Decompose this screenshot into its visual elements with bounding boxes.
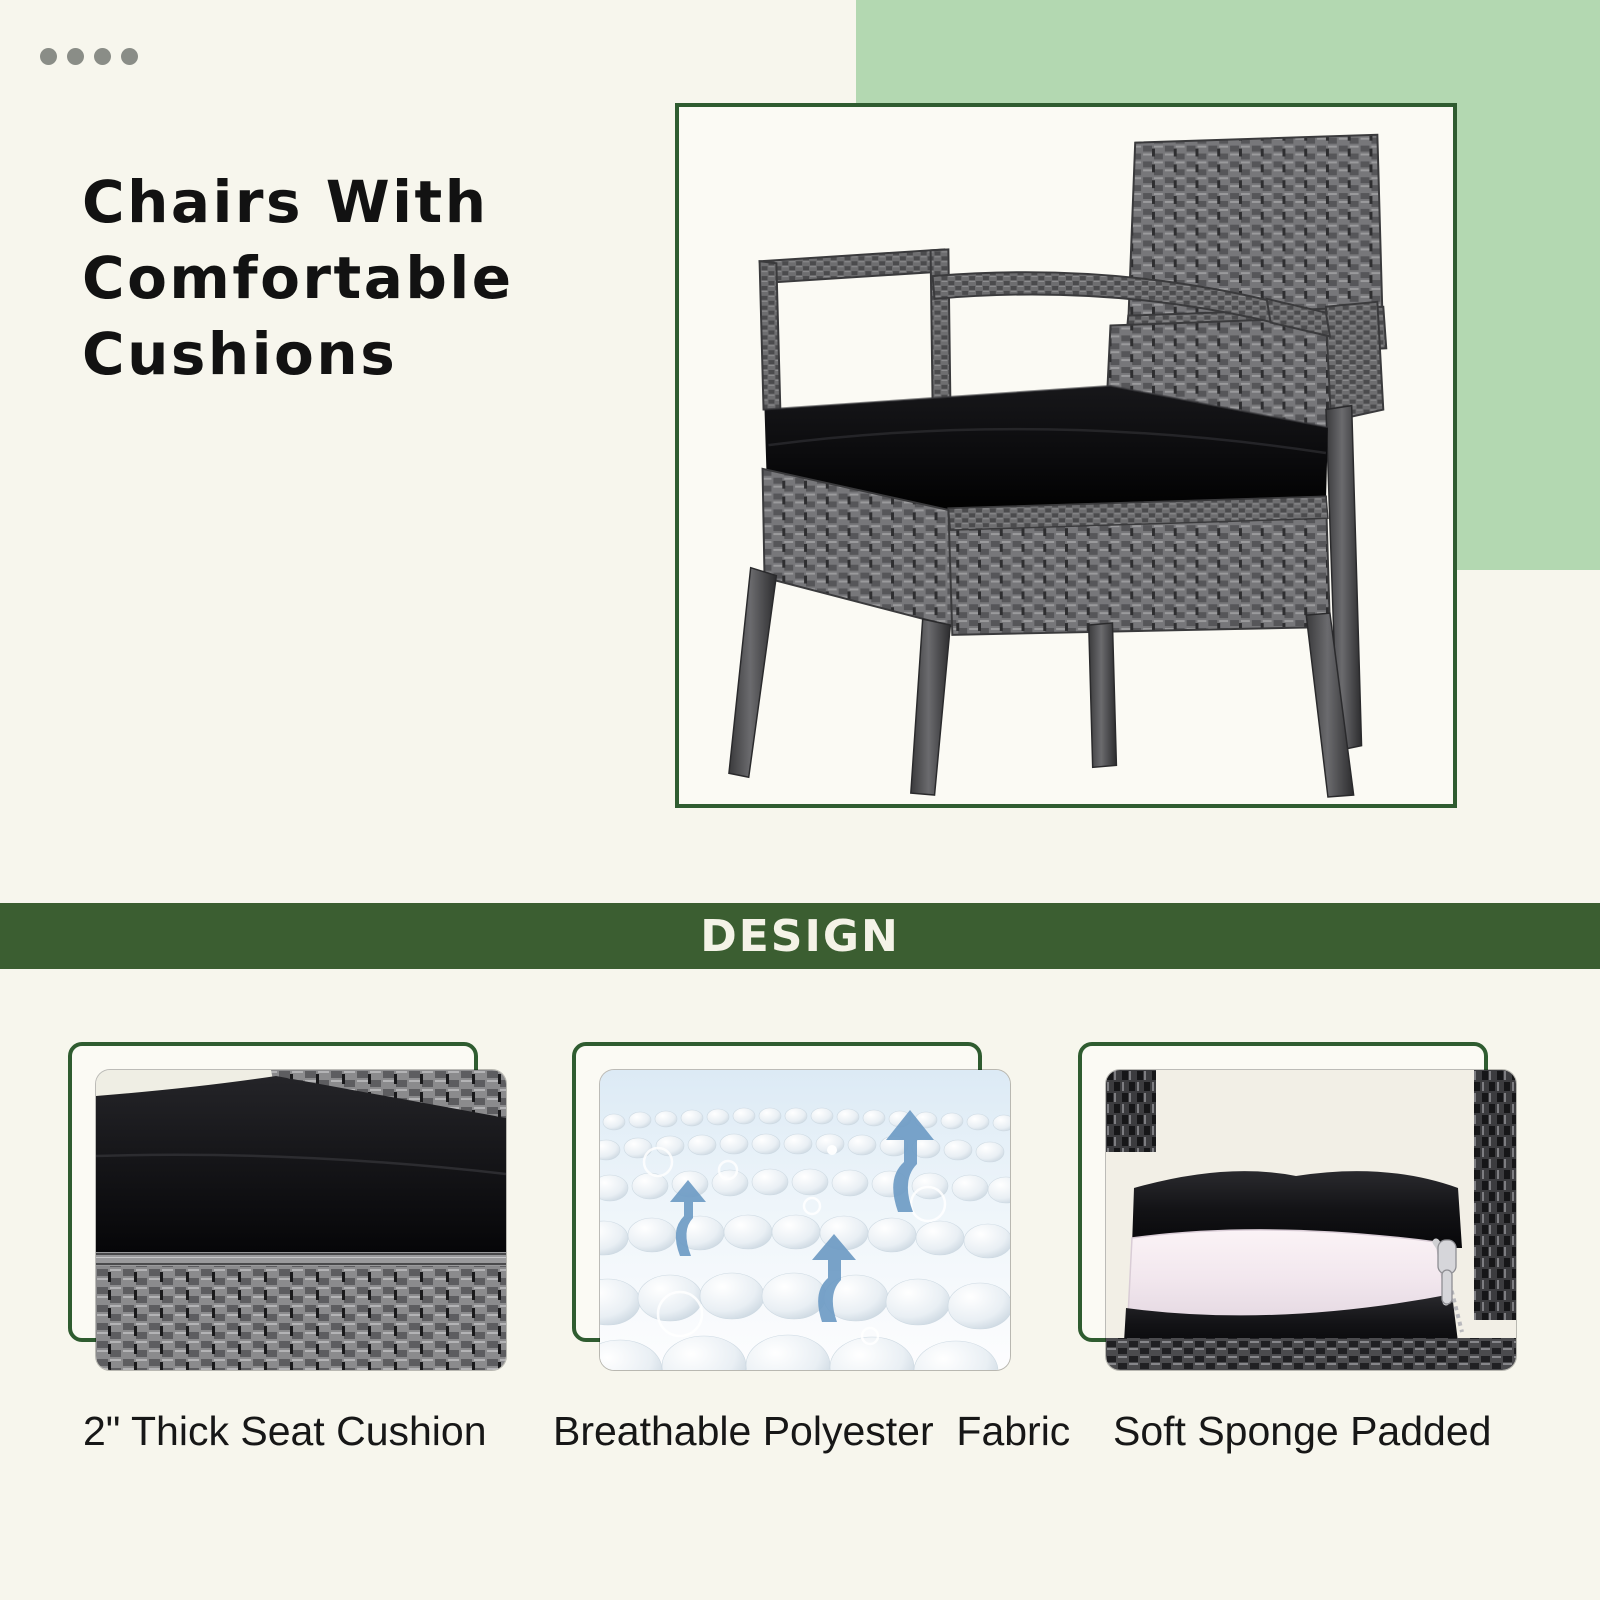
hero-heading: Chairs With Comfortable Cushions xyxy=(82,164,602,392)
hero-heading-line-1: Chairs With xyxy=(82,164,602,240)
dot-icon xyxy=(121,48,138,65)
caption-thick-seat-cushion: 2" Thick Seat Cushion xyxy=(83,1408,487,1455)
product-infographic-page: Chairs With Comfortable Cushions xyxy=(0,0,1600,1600)
design-section-banner: DESIGN xyxy=(0,903,1600,969)
feature-thumbnail-row xyxy=(0,1038,1600,1388)
thumbnail-image-seat-cushion xyxy=(96,1070,506,1370)
feature-thumbnail-breathable-fabric[interactable] xyxy=(572,1042,982,1342)
hero-heading-line-2: Comfortable xyxy=(82,240,602,316)
dot-icon xyxy=(67,48,84,65)
product-photo xyxy=(685,113,1447,798)
caption-breathable-fabric: Breathable Polyester Fabric xyxy=(553,1408,1070,1455)
design-banner-title: DESIGN xyxy=(700,911,900,962)
dot-icon xyxy=(40,48,57,65)
feature-captions: 2" Thick Seat Cushion Breathable Polyest… xyxy=(0,1408,1600,1478)
caption-sponge-padded: Soft Sponge Padded xyxy=(1113,1408,1491,1455)
rattan-armchair-illustration xyxy=(685,113,1447,798)
dot-icon xyxy=(94,48,111,65)
thumbnail-image-sponge-padded xyxy=(1106,1070,1516,1370)
hero-heading-line-3: Cushions xyxy=(82,316,602,392)
feature-thumbnail-thick-seat-cushion[interactable] xyxy=(68,1042,478,1342)
dots-decoration xyxy=(40,48,138,65)
feature-thumbnail-sponge-padded[interactable] xyxy=(1078,1042,1488,1342)
product-photo-frame xyxy=(675,103,1457,808)
thumbnail-image-breathable-fabric xyxy=(600,1070,1010,1370)
